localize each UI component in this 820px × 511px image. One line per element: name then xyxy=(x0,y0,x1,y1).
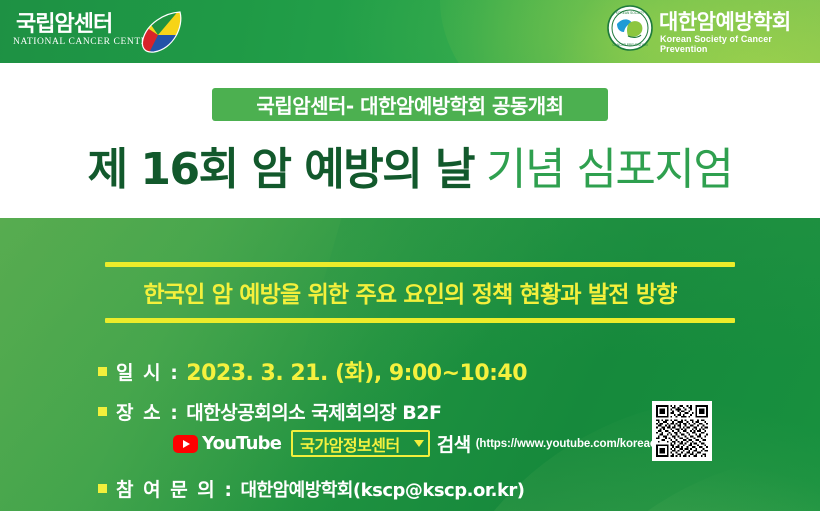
event-poster: 국립암센터 NATIONAL CANCER CENTER xyxy=(0,0,820,511)
youtube-channel-select[interactable]: 국가암정보센터 xyxy=(291,430,430,457)
kscp-name-english: Korean Society of Cancer Prevention xyxy=(660,34,812,54)
date-label: 일 시 : xyxy=(116,358,179,385)
ncc-name-english: NATIONAL CANCER CENTER xyxy=(13,37,154,47)
youtube-channel-value: 국가암정보센터 xyxy=(300,432,400,456)
ncc-name-korean: 국립암센터 xyxy=(16,6,112,38)
ncc-leaf-mark-icon xyxy=(140,9,184,55)
bullet-square-icon xyxy=(98,367,107,376)
bullet-square-icon xyxy=(98,407,107,416)
kscp-name-korean: 대한암예방학회 xyxy=(659,6,791,36)
date-value: 2023. 3. 21. (화), 9:00~10:40 xyxy=(186,355,527,387)
chevron-down-icon xyxy=(414,440,424,447)
contact-label: 참 여 문 의 : xyxy=(116,475,233,502)
info-row-date: 일 시 : 2023. 3. 21. (화), 9:00~10:40 xyxy=(98,355,527,387)
youtube-logo[interactable]: YouTube xyxy=(173,433,281,454)
theme-divider-top xyxy=(105,262,735,267)
page-title-main: 제 16회 암 예방의 날 xyxy=(88,133,474,197)
page-title-sub: 기념 심포지엄 xyxy=(486,133,732,197)
qr-code[interactable] xyxy=(652,401,712,461)
co-host-banner-label: 국립암센터- 대한암예방학회 공동개최 xyxy=(256,90,563,119)
place-value: 대한상공회의소 국제회의장 B2F xyxy=(186,398,441,425)
youtube-brand-label: YouTube xyxy=(202,433,281,454)
symposium-theme-text: 한국인 암 예방을 위한 주요 요인의 정책 현황과 발전 방향 xyxy=(143,275,676,309)
youtube-play-icon xyxy=(173,435,198,453)
kscp-emblem-icon: KOREAN SOCIETY CANCER PREVENTION xyxy=(607,5,653,51)
contact-value[interactable]: 대한암예방학회(kscp@kscp.or.kr) xyxy=(240,476,524,502)
svg-text:KOREAN SOCIETY: KOREAN SOCIETY xyxy=(616,11,645,15)
logo-korean-society-cancer-prevention: KOREAN SOCIETY CANCER PREVENTION 대한암예방학회… xyxy=(607,4,812,56)
info-row-place: 장 소 : 대한상공회의소 국제회의장 B2F xyxy=(98,398,441,425)
logo-national-cancer-center: 국립암센터 NATIONAL CANCER CENTER xyxy=(12,5,187,57)
header-band: 국립암센터 NATIONAL CANCER CENTER xyxy=(0,0,820,218)
youtube-channel-row: YouTube 국가암정보센터 검색 (https://www.youtube.… xyxy=(173,430,711,457)
qr-code-image xyxy=(656,405,708,457)
youtube-search-label: 검색 xyxy=(437,430,471,457)
co-host-banner: 국립암센터- 대한암예방학회 공동개최 xyxy=(212,88,608,121)
page-title: 제 16회 암 예방의 날 기념 심포지엄 xyxy=(0,134,820,196)
theme-divider-bottom xyxy=(105,318,735,323)
place-label: 장 소 : xyxy=(116,398,179,425)
symposium-theme: 한국인 암 예방을 위한 주요 요인의 정책 현황과 발전 방향 xyxy=(0,272,820,312)
info-row-contact: 참 여 문 의 : 대한암예방학회(kscp@kscp.or.kr) xyxy=(98,475,525,502)
bullet-square-icon xyxy=(98,484,107,493)
svg-text:CANCER PREVENTION: CANCER PREVENTION xyxy=(612,43,648,47)
